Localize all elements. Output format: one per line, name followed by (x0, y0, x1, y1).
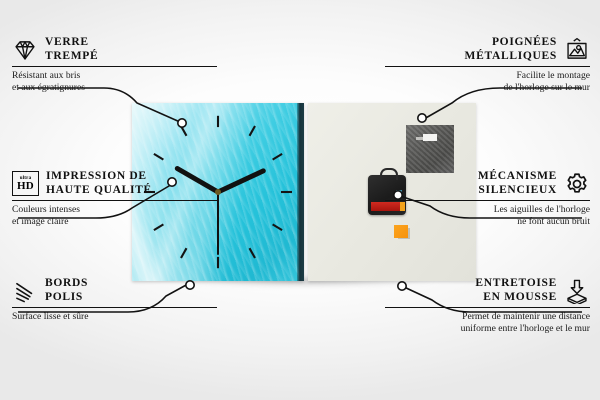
polished-edges-icon (12, 278, 38, 304)
feature-subtitle-line: Couleurs intenses (12, 204, 217, 216)
divider (385, 200, 590, 201)
feature-title: POIGNÉES MÉTALLIQUES (465, 36, 557, 63)
feature-subtitle-line: de l'horloge sur le mur (385, 82, 590, 94)
gear-icon (564, 171, 590, 197)
feature-verre-trempe[interactable]: VERRE TREMPÉ Résistant aux bris et aux é… (12, 36, 217, 93)
foam-spacer-icon (564, 278, 590, 304)
badge-main-text: HD (17, 181, 34, 192)
feature-subtitle-line: Les aiguilles de l'horloge (385, 204, 590, 216)
divider (385, 66, 590, 67)
divider (385, 307, 590, 308)
feature-subtitle-line: Résistant aux bris (12, 70, 217, 82)
feature-subtitle-line: uniforme entre l'horloge et le mur (385, 323, 590, 335)
feature-impression-haute-qualite[interactable]: ultra HD IMPRESSION DE HAUTE QUALITÉ Cou… (12, 170, 217, 227)
feature-subtitle-line: Surface lisse et sûre (12, 311, 217, 323)
feature-subtitle-line: et image claire (12, 216, 217, 228)
feature-title: ENTRETOISE EN MOUSSE (475, 277, 557, 304)
feature-title: IMPRESSION DE HAUTE QUALITÉ (46, 170, 152, 197)
picture-hanger-icon (564, 37, 590, 63)
feature-header: ENTRETOISE EN MOUSSE (385, 277, 590, 304)
feature-subtitle-line: ne font aucun bruit (385, 216, 590, 228)
feature-entretoise-en-mousse[interactable]: ENTRETOISE EN MOUSSE Permet de maintenir… (385, 277, 590, 334)
divider (12, 66, 217, 67)
feature-header: MÉCANISME SILENCIEUX (385, 170, 590, 197)
divider (12, 307, 217, 308)
feature-header: ultra HD IMPRESSION DE HAUTE QUALITÉ (12, 170, 217, 197)
feature-header: BORDS POLIS (12, 277, 217, 304)
feature-title: MÉCANISME SILENCIEUX (478, 170, 557, 197)
ultra-hd-badge-icon: ultra HD (12, 171, 39, 196)
infographic-canvas: VERRE TREMPÉ Résistant aux bris et aux é… (0, 0, 600, 400)
feature-subtitle-line: Facilite le montage (385, 70, 590, 82)
metal-hanger (406, 125, 454, 173)
feature-header: VERRE TREMPÉ (12, 36, 217, 63)
feature-poignees-metalliques[interactable]: POIGNÉES MÉTALLIQUES Facilite le montage… (385, 36, 590, 93)
divider (12, 200, 217, 201)
feature-header: POIGNÉES MÉTALLIQUES (385, 36, 590, 63)
feature-bords-polis[interactable]: BORDS POLIS Surface lisse et sûre (12, 277, 217, 323)
feature-title: BORDS POLIS (45, 277, 88, 304)
feature-subtitle-line: Permet de maintenir une distance (385, 311, 590, 323)
feature-mecanisme-silencieux[interactable]: MÉCANISME SILENCIEUX Les aiguilles de l'… (385, 170, 590, 227)
feature-subtitle-line: et aux égratignures (12, 82, 217, 94)
diamond-icon (12, 37, 38, 63)
feature-title: VERRE TREMPÉ (45, 36, 98, 63)
